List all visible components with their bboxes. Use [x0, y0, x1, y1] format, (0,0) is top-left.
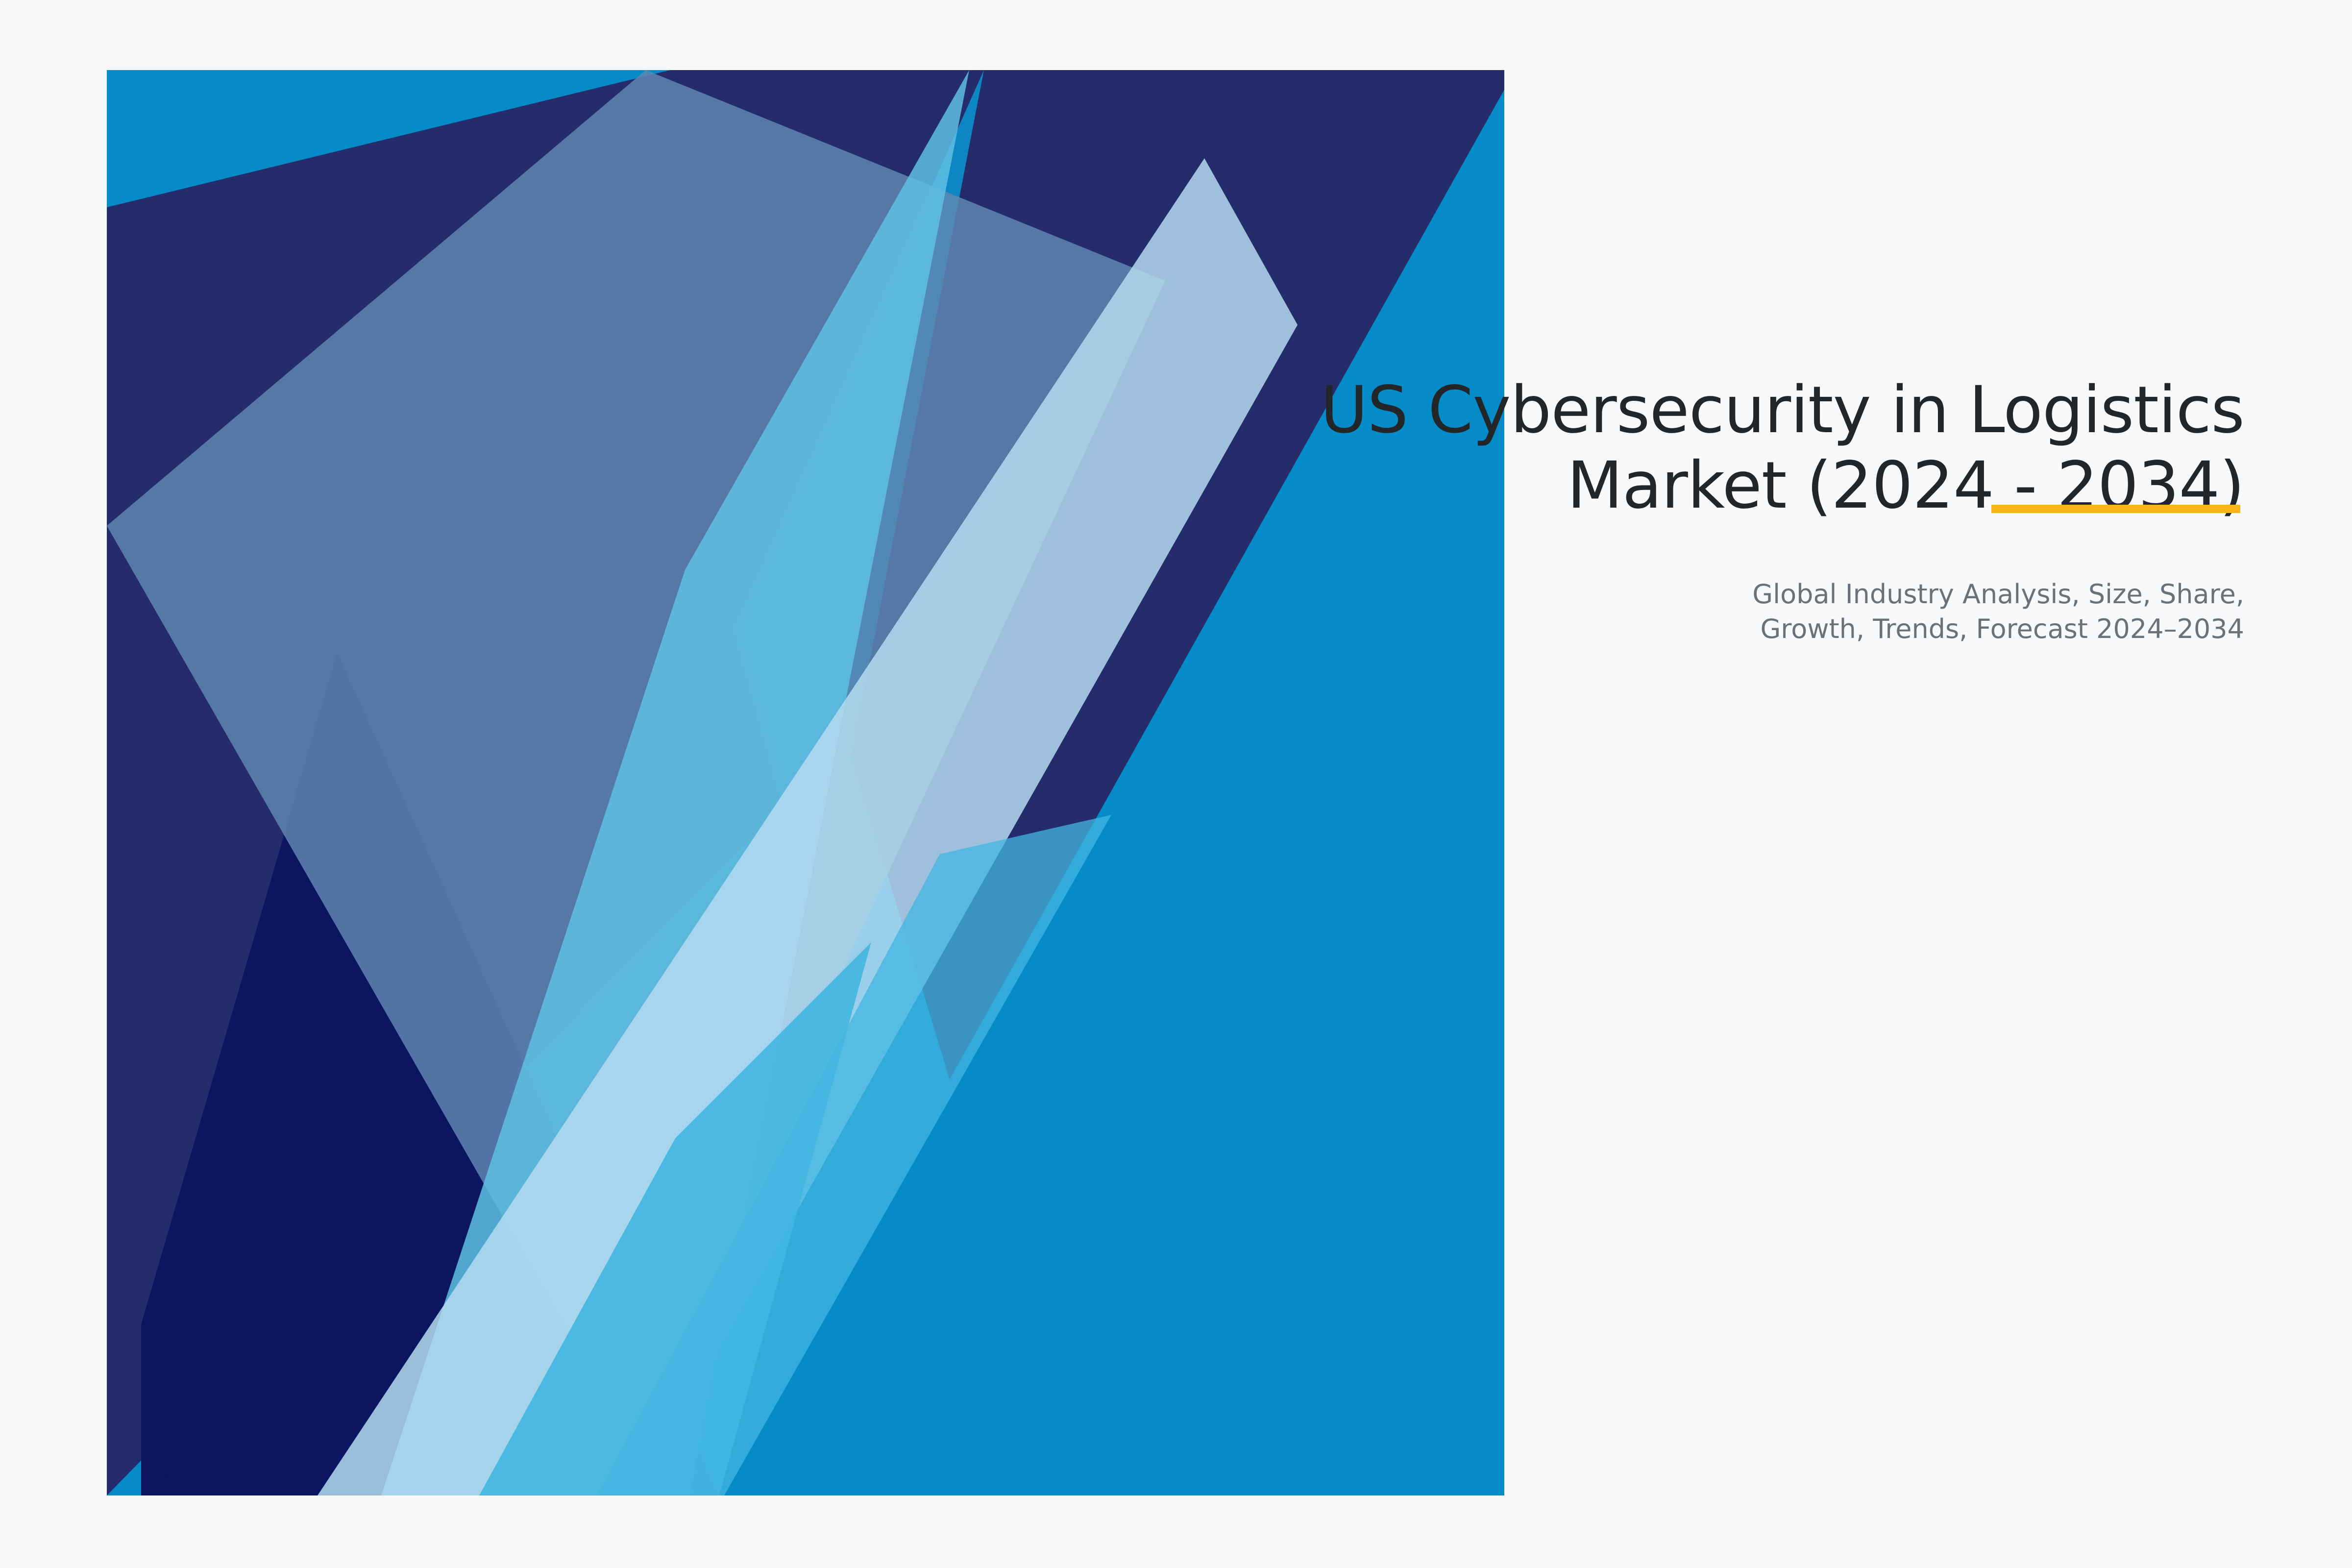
page-subtitle: Global Industry Analysis, Size, Share, G… [1107, 577, 2244, 647]
artwork-svg [107, 70, 1504, 1495]
title-wrapper: US Cybersecurity in Logistics Market (20… [1107, 372, 2244, 524]
abstract-geometric-artwork [107, 70, 1504, 1495]
page-title: US Cybersecurity in Logistics Market (20… [1107, 372, 2244, 524]
title-accent-underline [1991, 505, 2240, 513]
cover-text-block: US Cybersecurity in Logistics Market (20… [1107, 372, 2244, 646]
report-cover-page: US Cybersecurity in Logistics Market (20… [0, 0, 2352, 1568]
